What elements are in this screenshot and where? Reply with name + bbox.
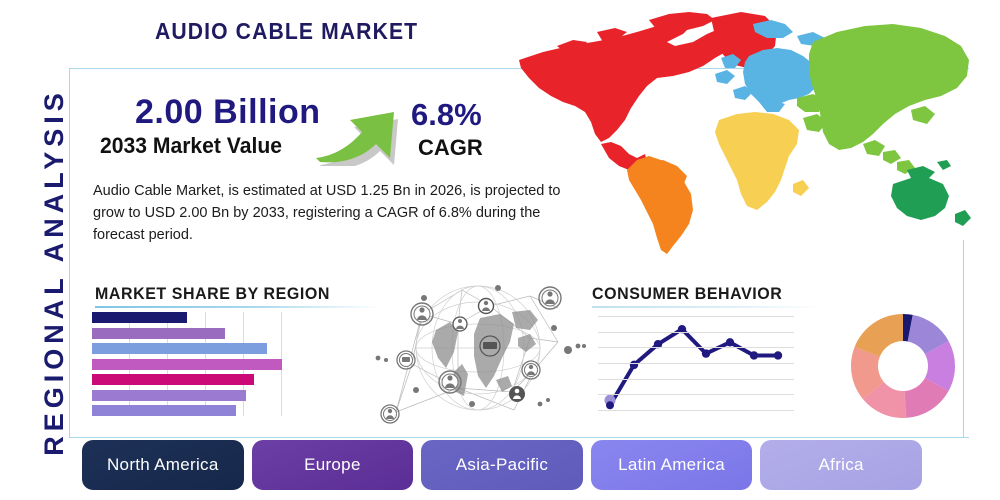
region-pill-north-america[interactable]: North America [82, 440, 244, 490]
bar-chart-bar [92, 405, 236, 416]
infographic-root: REGIONAL ANALYSIS AUDIO CABLE MARKET [0, 0, 1000, 500]
region-pill-europe[interactable]: Europe [252, 440, 414, 490]
cagr-label: CAGR [418, 135, 483, 161]
section-heading-market-share: MARKET SHARE BY REGION [95, 284, 330, 304]
section-heading-consumer-behavior: CONSUMER BEHAVIOR [592, 284, 782, 304]
region-pill-row: North AmericaEuropeAsia-PacificLatin Ame… [82, 440, 922, 490]
content-card-frame-right-edge [963, 240, 964, 438]
global-network-globe-icon [362, 272, 590, 430]
section-rule-left [95, 306, 382, 308]
bar-chart-bar [92, 312, 187, 323]
bar-chart-bar [92, 328, 225, 339]
section-rule-right [592, 306, 824, 308]
market-share-bar-chart [92, 312, 282, 416]
market-value-label: 2033 Market Value [100, 133, 282, 159]
line-chart-gridlines [598, 310, 794, 418]
bar-chart-bars [92, 312, 282, 416]
region-pill-asia-pacific[interactable]: Asia-Pacific [421, 440, 583, 490]
cagr-figure: 6.8% [411, 97, 482, 133]
bar-chart-bar [92, 359, 282, 370]
market-description: Audio Cable Market, is estimated at USD … [93, 180, 590, 246]
region-pill-latin-america[interactable]: Latin America [591, 440, 753, 490]
consumer-donut-chart [849, 312, 957, 420]
bar-chart-bar [92, 374, 254, 385]
consumer-behavior-line-chart [598, 310, 794, 418]
market-value-figure: 2.00 Billion [135, 93, 321, 132]
region-pill-africa[interactable]: Africa [760, 440, 922, 490]
bar-chart-bar [92, 390, 246, 401]
page-title: AUDIO CABLE MARKET [155, 18, 418, 45]
bar-chart-bar [92, 343, 267, 354]
growth-arrow-up-icon [310, 88, 410, 166]
